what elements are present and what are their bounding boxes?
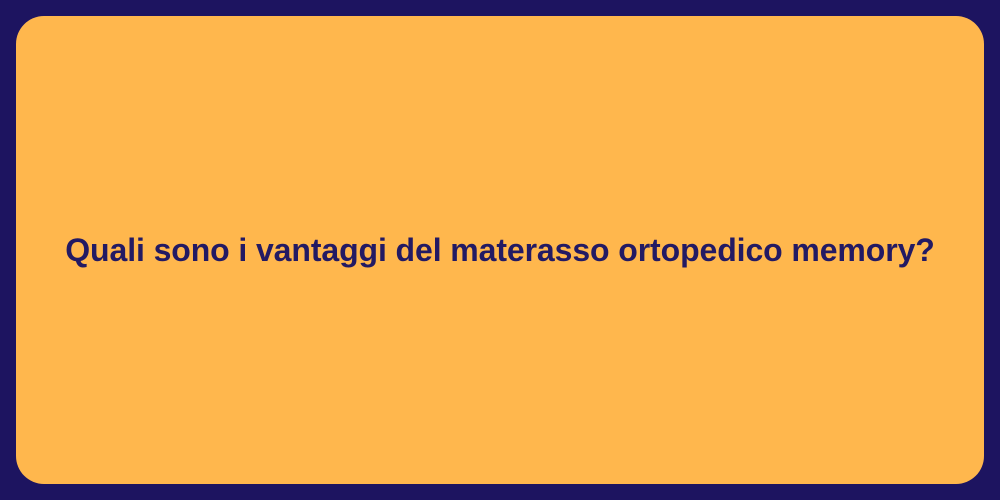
card-surface: Quali sono i vantaggi del materasso orto… xyxy=(16,16,984,484)
page-title: Quali sono i vantaggi del materasso orto… xyxy=(65,230,934,270)
card-frame: Quali sono i vantaggi del materasso orto… xyxy=(0,0,1000,500)
